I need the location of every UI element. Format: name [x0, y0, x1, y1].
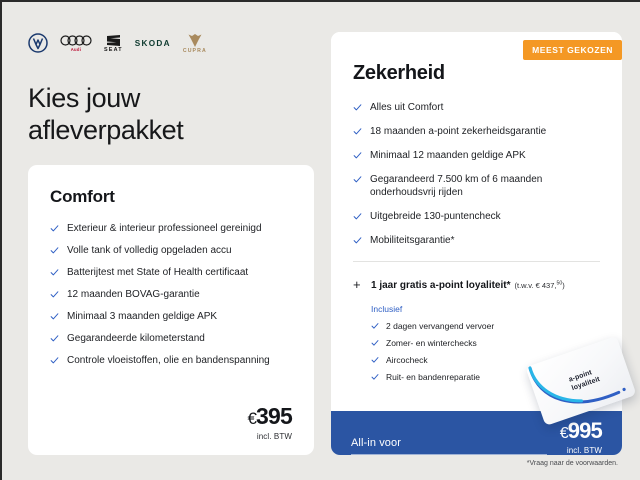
list-item-label: Zomer- en winterchecks [386, 338, 477, 349]
list-item: Minimaal 12 maanden geldige APK [353, 149, 600, 162]
list-item-label: Gegarandeerd 7.500 km of 6 maanden onder… [370, 173, 600, 199]
seat-logo-label: SEAT [104, 47, 123, 53]
check-icon [353, 236, 362, 245]
check-icon [353, 103, 362, 112]
check-icon [50, 290, 59, 299]
loyalty-value: (t.w.v. € 437,50) [514, 281, 564, 290]
list-item-label: 2 dagen vervangend vervoer [386, 321, 494, 332]
list-item-label: 18 maanden a-point zekerheidsgarantie [370, 125, 546, 138]
left-column: Audi SEAT SKODA CUPRA Kies jouw afleverp… [2, 2, 320, 480]
currency-symbol: € [248, 409, 256, 428]
page-headline: Kies jouw afleverpakket [28, 82, 298, 146]
check-icon [371, 356, 379, 364]
comfort-feature-list: Exterieur & interieur professioneel gere… [50, 222, 292, 367]
check-icon [50, 268, 59, 277]
check-icon [50, 334, 59, 343]
volkswagen-logo [28, 33, 48, 53]
list-item-label: Volle tank of volledig opgeladen accu [67, 244, 232, 257]
list-item: Volle tank of volledig opgeladen accu [50, 244, 292, 257]
allin-label: All-in voor [351, 437, 547, 453]
list-item: Gegarandeerde kilometerstand [50, 332, 292, 345]
allin-underline [351, 454, 547, 455]
check-icon [50, 312, 59, 321]
list-item-label: Aircocheck [386, 355, 428, 366]
comfort-price-note: incl. BTW [248, 432, 292, 441]
allin-price-row: All-in voor €995 incl. BTW [351, 420, 602, 455]
check-icon [371, 373, 379, 381]
list-item-label: Uitgebreide 130-puntencheck [370, 210, 501, 223]
list-item-label: Batterijtest met State of Health certifi… [67, 266, 248, 279]
check-icon [50, 224, 59, 233]
check-icon [353, 175, 362, 184]
allin-price: €995 [560, 420, 602, 445]
comfort-price: €395 [248, 404, 292, 431]
inclusief-title: Inclusief [371, 304, 600, 314]
list-item: Gegarandeerd 7.500 km of 6 maanden onder… [353, 173, 600, 199]
list-item-label: Mobiliteitsgarantie* [370, 234, 455, 247]
seat-logo: SEAT [104, 34, 123, 53]
zekerheid-package-card[interactable]: MEEST GEKOZEN Zekerheid Alles uit Comfor… [331, 32, 622, 455]
check-icon [353, 151, 362, 160]
zekerheid-feature-list: Alles uit Comfort 18 maanden a-point zek… [353, 101, 600, 247]
list-item-label: Minimaal 3 maanden geldige APK [67, 310, 217, 323]
list-item: Mobiliteitsgarantie* [353, 234, 600, 247]
section-divider [353, 261, 600, 262]
list-item: Zomer- en winterchecks [371, 338, 600, 349]
loyalty-highlight-row: + 1 jaar gratis a-point loyaliteit*(t.w.… [353, 275, 600, 293]
skoda-logo-label: SKODA [135, 39, 171, 48]
list-item: Batterijtest met State of Health certifi… [50, 266, 292, 279]
list-item: Alles uit Comfort [353, 101, 600, 114]
loyalty-value-suffix: ) [562, 281, 565, 290]
brand-logo-bar: Audi SEAT SKODA CUPRA [28, 30, 207, 56]
list-item-label: Minimaal 12 maanden geldige APK [370, 149, 526, 162]
check-icon [353, 127, 362, 136]
list-item-label: Alles uit Comfort [370, 101, 443, 114]
allin-price-note: incl. BTW [560, 446, 602, 455]
list-item: Uitgebreide 130-puntencheck [353, 210, 600, 223]
plus-icon: + [353, 279, 362, 290]
list-item: Controle vloeistoffen, olie en bandenspa… [50, 354, 292, 367]
audi-logo-label: Audi [71, 47, 82, 52]
allin-label-wrap: All-in voor [351, 437, 547, 455]
check-icon [50, 246, 59, 255]
comfort-price-block: €395 incl. BTW [248, 404, 292, 441]
skoda-logo: SKODA [135, 39, 171, 48]
list-item: 2 dagen vervangend vervoer [371, 321, 600, 332]
allin-price-block: €995 incl. BTW [560, 420, 602, 455]
check-icon [371, 322, 379, 330]
check-icon [371, 339, 379, 347]
list-item: 18 maanden a-point zekerheidsgarantie [353, 125, 600, 138]
list-item-label: Exterieur & interieur professioneel gere… [67, 222, 262, 235]
list-item-label: Gegarandeerde kilometerstand [67, 332, 205, 345]
comfort-package-card[interactable]: Comfort Exterieur & interieur profession… [28, 165, 314, 455]
allin-price-amount: 995 [568, 418, 602, 443]
zekerheid-card-title: Zekerheid [353, 62, 600, 85]
cupra-logo: CUPRA [183, 33, 207, 54]
list-item: 12 maanden BOVAG-garantie [50, 288, 292, 301]
status-badge: MEEST GEKOZEN [523, 40, 622, 60]
cupra-logo-label: CUPRA [183, 48, 207, 54]
check-icon [50, 356, 59, 365]
comfort-card-title: Comfort [50, 187, 292, 207]
comfort-price-amount: 395 [256, 403, 292, 429]
audi-logo: Audi [60, 34, 92, 52]
loyalty-value-prefix: (t.w.v. € 437, [514, 281, 556, 290]
loyalty-label: 1 jaar gratis a-point loyaliteit* [371, 280, 510, 291]
list-item-label: Controle vloeistoffen, olie en bandenspa… [67, 354, 270, 367]
currency-symbol: € [560, 425, 568, 442]
list-item: Exterieur & interieur professioneel gere… [50, 222, 292, 235]
list-item-label: Ruit- en bandenreparatie [386, 372, 480, 383]
footnote: *Vraag naar de voorwaarden. [527, 460, 618, 467]
check-icon [353, 212, 362, 221]
list-item-label: 12 maanden BOVAG-garantie [67, 288, 200, 301]
list-item: Minimaal 3 maanden geldige APK [50, 310, 292, 323]
allin-price-footer: All-in voor €995 incl. BTW [331, 411, 622, 455]
